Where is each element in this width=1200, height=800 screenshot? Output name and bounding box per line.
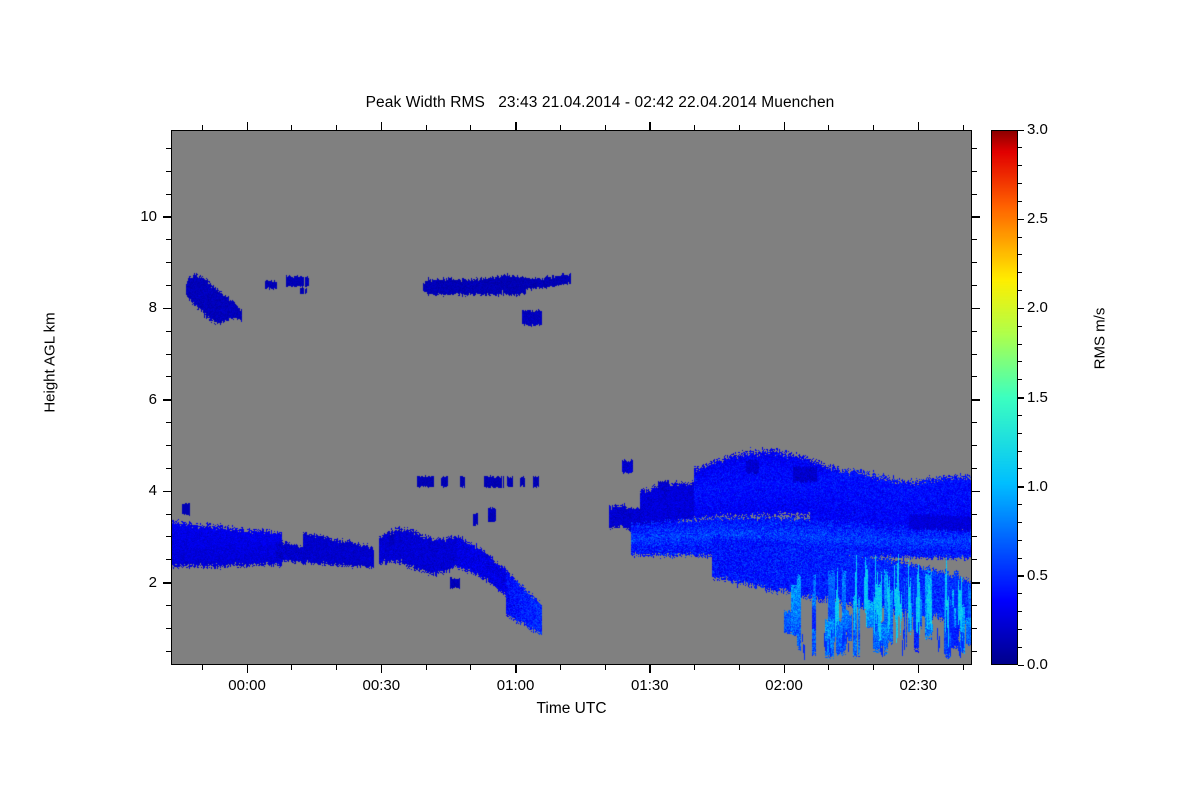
colorbar-tick-label: 1.0 [1027, 478, 1048, 495]
y-tick-major-right [972, 582, 980, 584]
x-tick-minor-top [873, 125, 874, 130]
y-tick-minor-right [972, 559, 977, 560]
colorbar-tick [1018, 308, 1024, 310]
colorbar-tick-minor [1018, 165, 1022, 166]
x-tick-major-top [515, 122, 517, 130]
x-tick-major-top [649, 122, 651, 130]
x-tick-minor-top [605, 125, 606, 130]
y-tick-minor [166, 331, 171, 332]
y-tick-minor [166, 628, 171, 629]
x-tick-minor [426, 665, 427, 670]
x-tick-major [918, 665, 920, 673]
y-tick-label: 10 [0, 208, 157, 225]
y-tick-minor-right [972, 285, 977, 286]
colorbar-tick-minor [1018, 433, 1022, 434]
colorbar-tick-minor [1018, 201, 1022, 202]
y-tick-minor-right [972, 354, 977, 355]
colorbar-tick-minor [1018, 361, 1022, 362]
x-tick-minor-top [828, 125, 829, 130]
y-tick-minor [166, 445, 171, 446]
y-tick-minor-right [972, 628, 977, 629]
page-title: Peak Width RMS 23:43 21.04.2014 - 02:42 … [0, 94, 1200, 112]
x-tick-label: 01:00 [476, 677, 556, 694]
y-tick-minor [166, 239, 171, 240]
x-tick-major [784, 665, 786, 673]
x-tick-minor [873, 665, 874, 670]
colorbar-tick-minor [1018, 558, 1022, 559]
colorbar-tick-minor [1018, 183, 1022, 184]
colorbar-tick [1018, 665, 1024, 667]
x-tick-major-top [247, 122, 249, 130]
colorbar-tick-minor [1018, 272, 1022, 273]
y-tick-major-right [972, 308, 980, 310]
y-tick-minor [166, 148, 171, 149]
x-tick-minor [694, 665, 695, 670]
colorbar-tick-minor [1018, 379, 1022, 380]
colorbar-tick-label: 2.5 [1027, 210, 1048, 227]
colorbar-tick-minor [1018, 451, 1022, 452]
colorbar-tick-minor [1018, 522, 1022, 523]
y-tick-minor-right [972, 239, 977, 240]
y-tick-major [163, 308, 171, 310]
y-tick-minor [166, 536, 171, 537]
y-axis-label: Height AGL km [42, 263, 59, 463]
colorbar-tick-label: 1.5 [1027, 389, 1048, 406]
colorbar-tick-minor [1018, 415, 1022, 416]
y-tick-label: 8 [0, 299, 157, 316]
y-tick-major-right [972, 399, 980, 401]
x-tick-major [515, 665, 517, 673]
y-tick-minor-right [972, 262, 977, 263]
x-axis-label: Time UTC [171, 700, 972, 718]
y-tick-major [163, 582, 171, 584]
y-tick-minor [166, 422, 171, 423]
x-tick-major [381, 665, 383, 673]
y-tick-minor-right [972, 194, 977, 195]
x-tick-major-top [784, 122, 786, 130]
x-tick-minor [291, 665, 292, 670]
y-tick-major [163, 491, 171, 493]
x-tick-minor [336, 665, 337, 670]
x-tick-minor [560, 665, 561, 670]
y-tick-minor [166, 514, 171, 515]
colorbar-tick-minor [1018, 290, 1022, 291]
y-tick-major-right [972, 491, 980, 493]
colorbar-tick-label: 0.5 [1027, 567, 1048, 584]
colorbar-tick-minor [1018, 326, 1022, 327]
y-tick-minor [166, 468, 171, 469]
y-tick-minor [166, 651, 171, 652]
colorbar-tick-minor [1018, 540, 1022, 541]
x-tick-minor-top [291, 125, 292, 130]
x-tick-minor-top [426, 125, 427, 130]
x-tick-label: 01:30 [610, 677, 690, 694]
y-tick-minor-right [972, 171, 977, 172]
x-tick-minor-top [560, 125, 561, 130]
y-tick-minor [166, 262, 171, 263]
colorbar-tick-minor [1018, 254, 1022, 255]
colorbar-tick [1018, 486, 1024, 488]
y-tick-minor [166, 559, 171, 560]
y-tick-label: 6 [0, 391, 157, 408]
colorbar-tick-label: 0.0 [1027, 656, 1048, 673]
y-tick-minor [166, 171, 171, 172]
y-tick-label: 2 [0, 574, 157, 591]
y-tick-minor-right [972, 376, 977, 377]
x-tick-minor-top [336, 125, 337, 130]
colorbar-tick-minor [1018, 611, 1022, 612]
x-tick-minor [828, 665, 829, 670]
colorbar-tick-minor [1018, 593, 1022, 594]
colorbar-tick-label: 2.0 [1027, 299, 1048, 316]
y-tick-minor [166, 605, 171, 606]
colorbar-tick [1018, 219, 1024, 221]
x-tick-label: 02:30 [878, 677, 958, 694]
lidar-rms-figure: Peak Width RMS 23:43 21.04.2014 - 02:42 … [0, 0, 1200, 800]
y-tick-minor [166, 285, 171, 286]
x-tick-label: 00:00 [207, 677, 287, 694]
colorbar-gradient[interactable] [991, 130, 1018, 665]
y-tick-minor-right [972, 605, 977, 606]
x-tick-major-top [918, 122, 920, 130]
colorbar-tick-label: 3.0 [1027, 121, 1048, 138]
y-tick-minor [166, 194, 171, 195]
colorbar-tick-minor [1018, 468, 1022, 469]
heatmap-plot-area[interactable] [171, 130, 972, 665]
colorbar-tick-minor [1018, 504, 1022, 505]
colorbar-tick-minor [1018, 237, 1022, 238]
x-tick-minor-top [694, 125, 695, 130]
colorbar-label: RMS m/s [1092, 239, 1109, 439]
colorbar-tick [1018, 397, 1024, 399]
colorbar-tick-minor [1018, 647, 1022, 648]
x-tick-minor [202, 665, 203, 670]
x-tick-label: 02:00 [744, 677, 824, 694]
y-tick-minor-right [972, 514, 977, 515]
x-tick-minor-top [202, 125, 203, 130]
y-tick-minor-right [972, 148, 977, 149]
colorbar-tick [1018, 130, 1024, 132]
x-tick-minor-top [470, 125, 471, 130]
y-tick-major [163, 399, 171, 401]
colorbar-tick-minor [1018, 629, 1022, 630]
y-tick-minor-right [972, 536, 977, 537]
y-tick-label: 4 [0, 482, 157, 499]
x-tick-major [247, 665, 249, 673]
x-tick-minor [470, 665, 471, 670]
colorbar-tick-minor [1018, 344, 1022, 345]
x-tick-minor [963, 665, 964, 670]
y-tick-minor-right [972, 445, 977, 446]
x-tick-minor [605, 665, 606, 670]
x-tick-major-top [381, 122, 383, 130]
y-tick-minor [166, 376, 171, 377]
colorbar-tick [1018, 575, 1024, 577]
x-tick-minor-top [963, 125, 964, 130]
colorbar-tick-minor [1018, 147, 1022, 148]
y-tick-minor-right [972, 331, 977, 332]
y-tick-minor-right [972, 468, 977, 469]
x-tick-minor-top [739, 125, 740, 130]
y-tick-minor-right [972, 651, 977, 652]
x-tick-minor [739, 665, 740, 670]
y-tick-minor-right [972, 422, 977, 423]
y-tick-major-right [972, 216, 980, 218]
y-tick-minor [166, 354, 171, 355]
x-tick-major [649, 665, 651, 673]
x-tick-label: 00:30 [341, 677, 421, 694]
y-tick-major [163, 216, 171, 218]
